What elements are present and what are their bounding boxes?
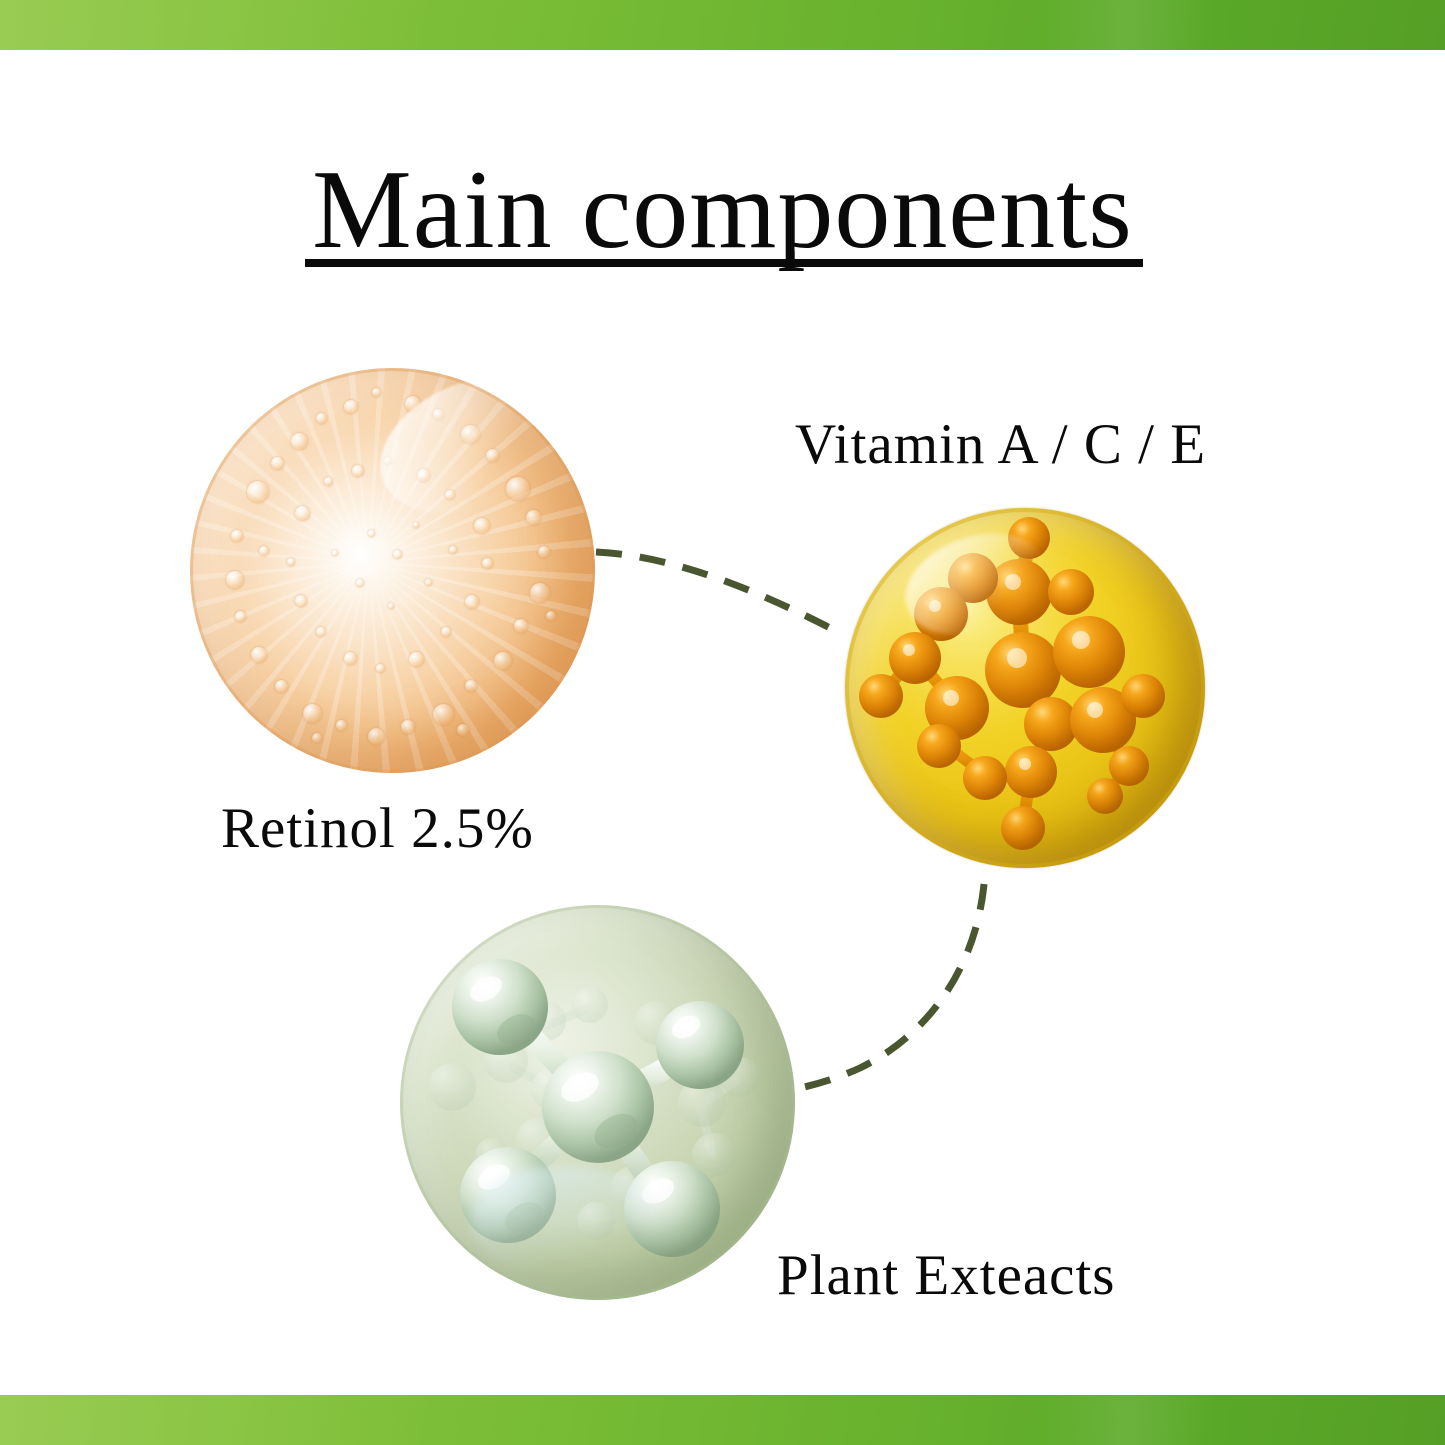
title-block: Main components <box>0 152 1445 268</box>
connector-vitamin-to-plant <box>800 884 984 1088</box>
plant-rim-shading <box>400 905 795 1300</box>
retinol-label: Retinol 2.5% <box>221 796 534 861</box>
page-title: Main components <box>0 152 1445 268</box>
connector-retinol-to-vitamin <box>596 552 838 632</box>
plant-label: Plant Exteacts <box>777 1243 1116 1308</box>
retinol-rim-shading <box>190 368 595 773</box>
top-green-band <box>0 0 1445 50</box>
vitamin-label: Vitamin A / C / E <box>795 412 1206 477</box>
infographic-canvas: Main components <box>0 0 1445 1445</box>
vitamin-rim-shading <box>845 508 1205 868</box>
bottom-green-band <box>0 1395 1445 1445</box>
vitamin-sphere <box>845 508 1205 868</box>
plant-sphere <box>400 905 795 1300</box>
retinol-sphere <box>190 368 595 773</box>
title-underline-rule <box>305 259 1143 267</box>
